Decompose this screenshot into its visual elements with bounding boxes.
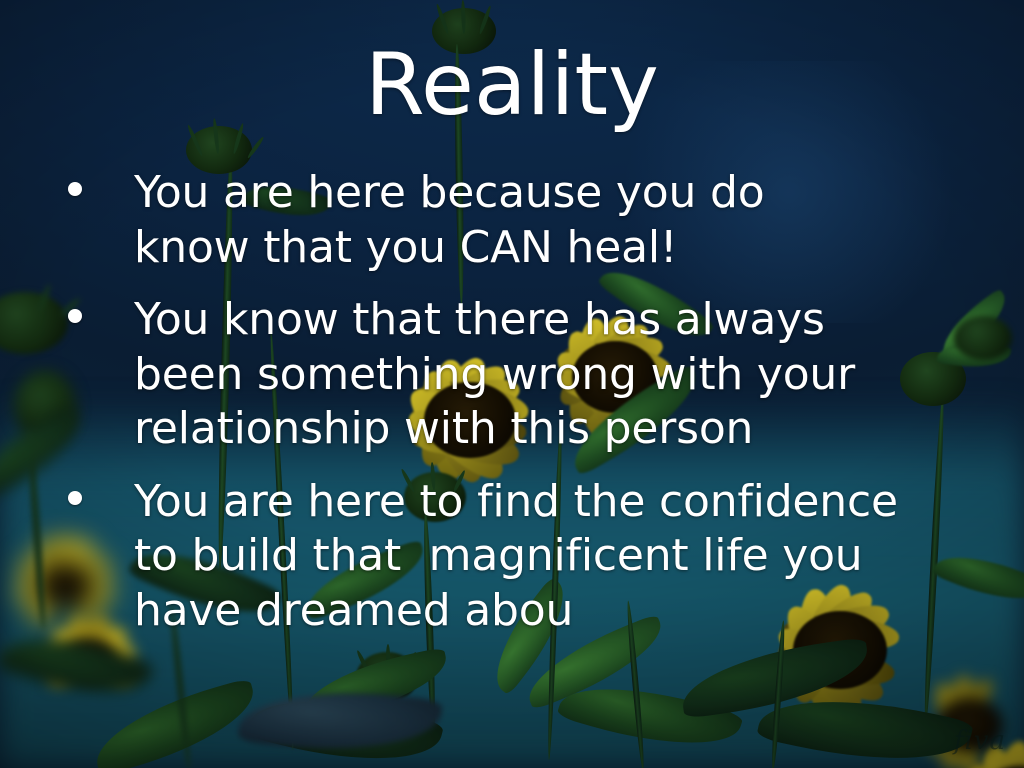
- bullet-point-icon: [68, 491, 82, 505]
- bullet-text: You are here to find the confidence to b…: [134, 475, 898, 639]
- list-item: You are here to find the confidence to b…: [58, 475, 984, 639]
- list-item: You are here because you do know that yo…: [58, 166, 984, 275]
- bullet-point-icon: [68, 309, 82, 323]
- watermark: fiva: [954, 726, 1006, 756]
- slide-title: Reality: [0, 42, 1024, 128]
- bullet-text: You are here because you do know that yo…: [134, 166, 764, 275]
- bullet-text: You know that there has always been some…: [134, 293, 855, 457]
- bullet-point-icon: [68, 182, 82, 196]
- slide-content: Reality You are here because you do know…: [0, 0, 1024, 768]
- presentation-slide: Reality You are here because you do know…: [0, 0, 1024, 768]
- bullet-list: You are here because you do know that yo…: [58, 166, 984, 656]
- list-item: You know that there has always been some…: [58, 293, 984, 457]
